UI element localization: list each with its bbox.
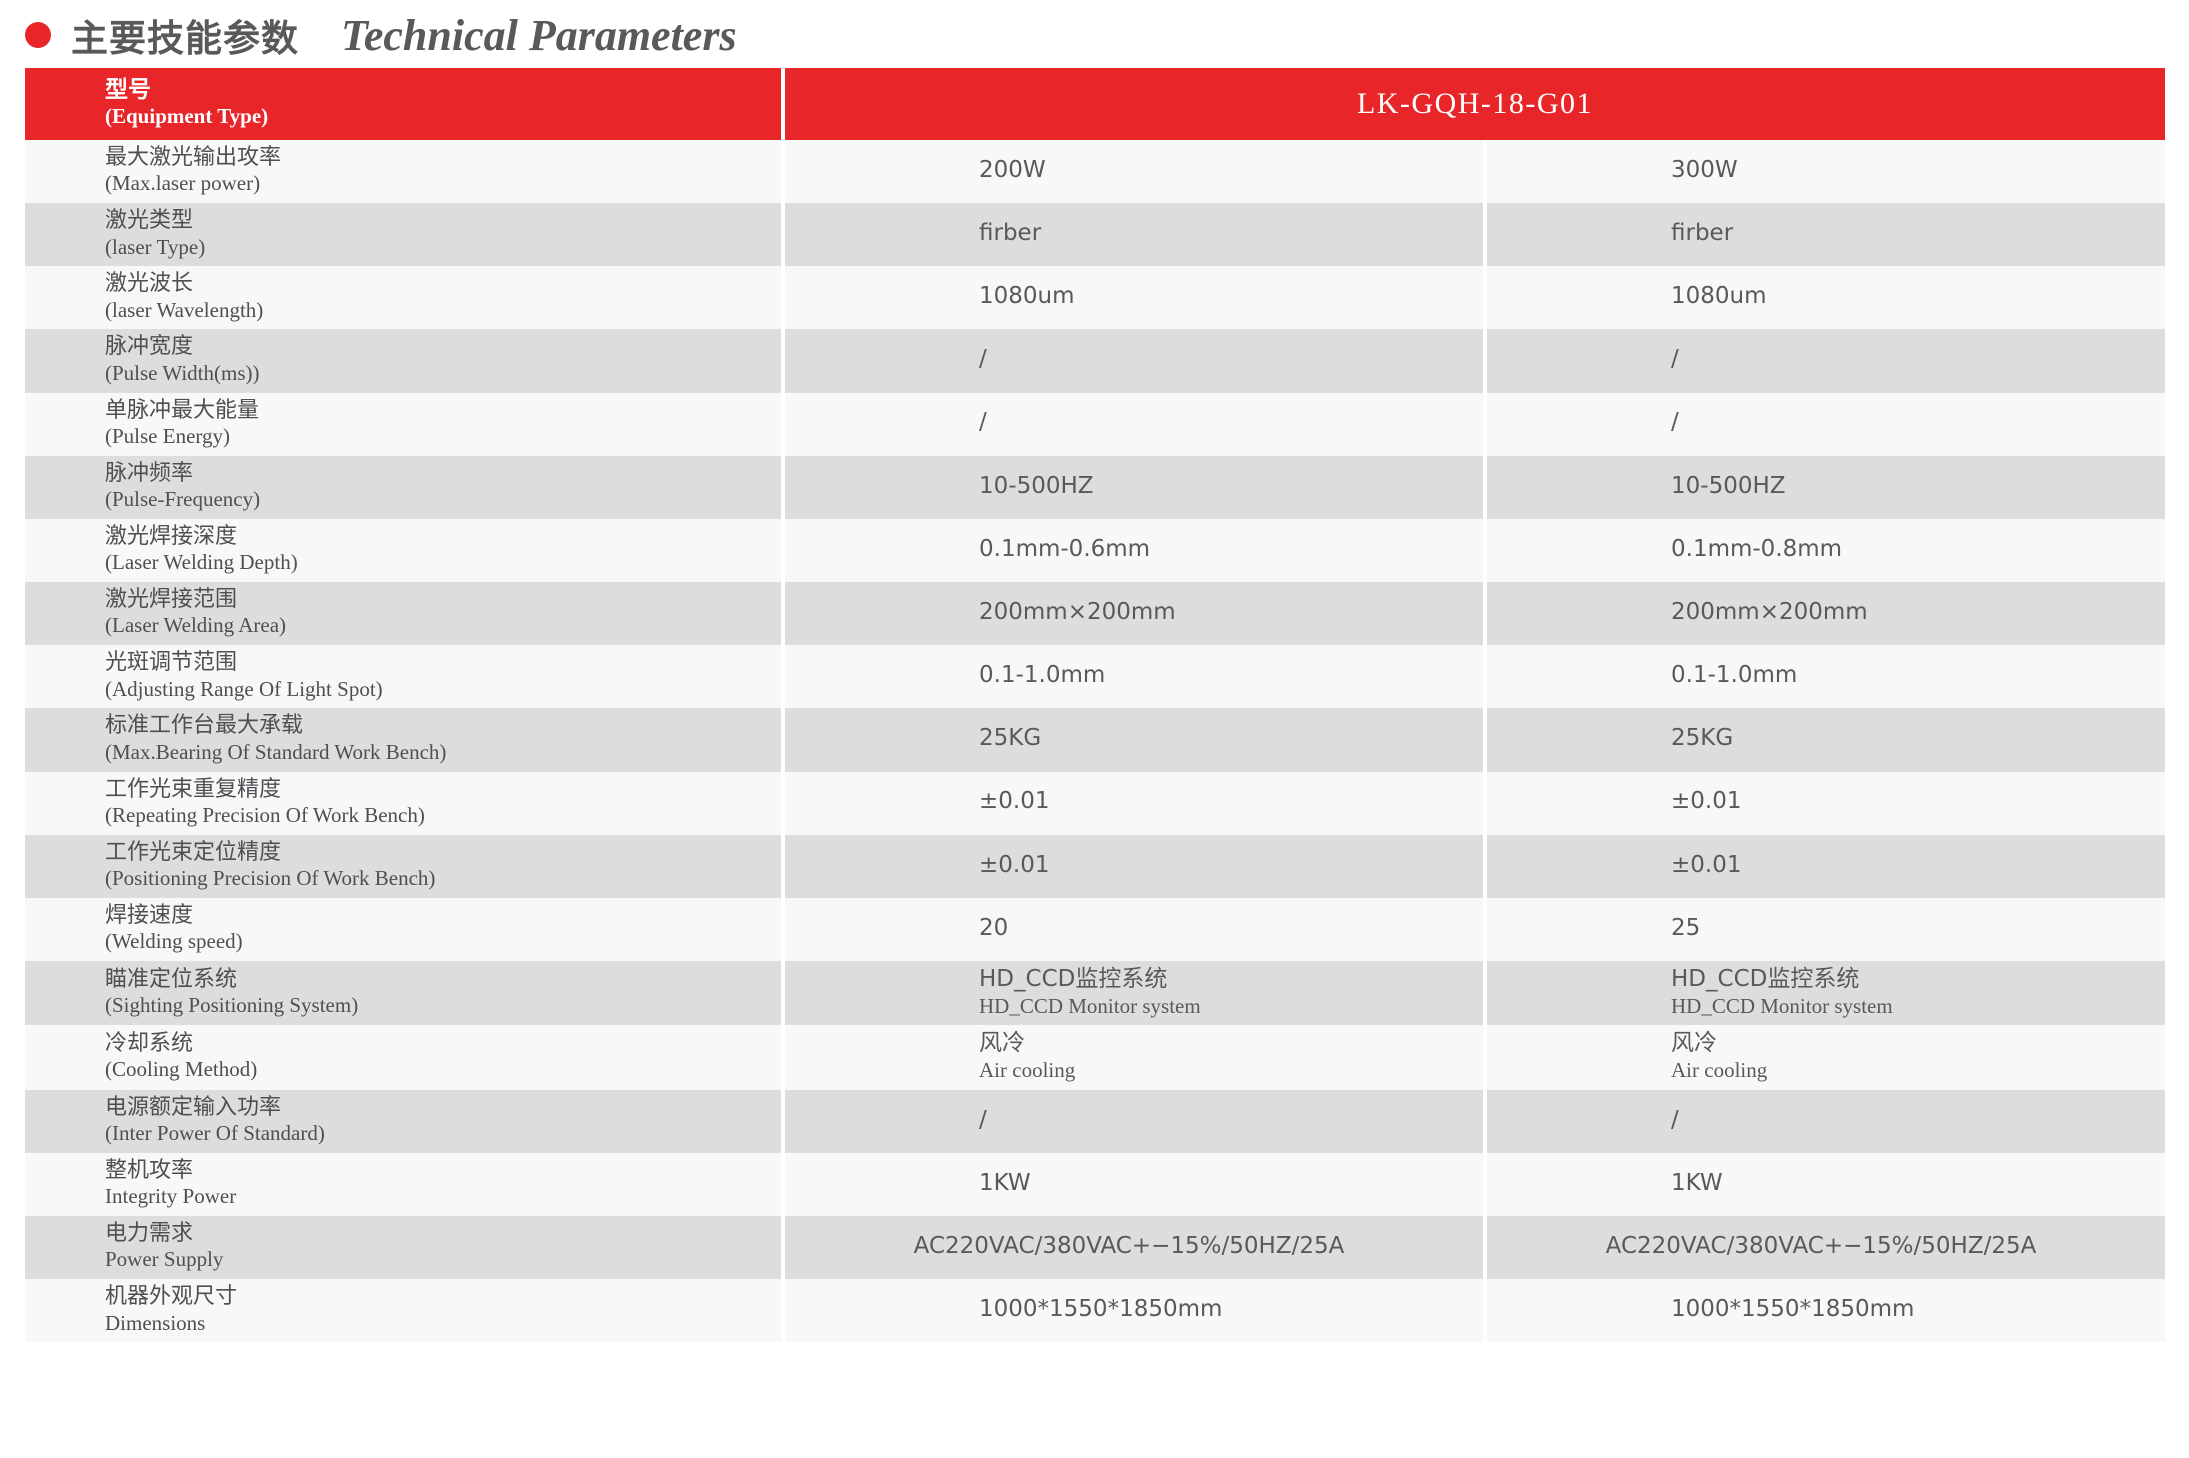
row-label-cell: 脉冲频率(Pulse-Frequency) — [25, 456, 783, 519]
row-value-cell-1: 1080um — [783, 266, 1485, 329]
row-value-cell-2: HD_CCD监控系统HD_CCD Monitor system — [1485, 961, 2165, 1025]
row-label-cn: 激光焊接深度 — [105, 524, 771, 550]
row-label-cell: 工作光束定位精度(Positioning Precision Of Work B… — [25, 835, 783, 898]
row-value-cell-2: firber — [1485, 203, 2165, 266]
row-value-cell-2: ±0.01 — [1485, 835, 2165, 898]
value-text: 25KG — [1671, 725, 1971, 753]
table-row: 工作光束定位精度(Positioning Precision Of Work B… — [25, 835, 2165, 898]
row-label-cell: 焊接速度(Welding speed) — [25, 898, 783, 961]
value-text: 1KW — [979, 1170, 1279, 1198]
table-row: 最大激光输出攻率(Max.laser power)200W300W — [25, 140, 2165, 203]
value-text: 1080um — [1671, 283, 1971, 311]
value-block: 300W — [1671, 157, 1971, 185]
row-value-cell-2: / — [1485, 329, 2165, 392]
table-body: 最大激光输出攻率(Max.laser power)200W300W激光类型(la… — [25, 140, 2165, 1342]
row-label-en: Integrity Power — [105, 1184, 771, 1209]
row-label-cn: 整机攻率 — [105, 1158, 771, 1184]
row-value-cell-1: ±0.01 — [783, 772, 1485, 835]
row-label-en: (Inter Power Of Standard) — [105, 1121, 771, 1146]
value-block: 1080um — [979, 283, 1279, 311]
row-label-cell: 单脉冲最大能量(Pulse Energy) — [25, 393, 783, 456]
value-block: 25KG — [979, 725, 1279, 753]
row-label-cell: 机器外观尺寸Dimensions — [25, 1279, 783, 1342]
value-text: ±0.01 — [979, 788, 1279, 816]
value-text: firber — [979, 220, 1279, 248]
row-label-cell: 激光焊接范围(Laser Welding Area) — [25, 582, 783, 645]
table-row: 标准工作台最大承载(Max.Bearing Of Standard Work B… — [25, 708, 2165, 771]
row-value-cell-1: 风冷Air cooling — [783, 1025, 1485, 1089]
table-row: 激光焊接深度(Laser Welding Depth)0.1mm-0.6mm0.… — [25, 519, 2165, 582]
page-title-en: Technical Parameters — [341, 10, 737, 61]
row-label-cn: 焊接速度 — [105, 903, 771, 929]
table-row: 脉冲宽度(Pulse Width(ms))// — [25, 329, 2165, 392]
row-label-cn: 激光类型 — [105, 208, 771, 234]
value-text: 0.1-1.0mm — [979, 662, 1279, 690]
row-label-cn: 激光焊接范围 — [105, 587, 771, 613]
value-block: 10-500HZ — [979, 473, 1279, 501]
table-row: 单脉冲最大能量(Pulse Energy)// — [25, 393, 2165, 456]
value-text: ±0.01 — [1671, 788, 1971, 816]
value-text: 风冷 — [1671, 1030, 1971, 1058]
value-text: 10-500HZ — [979, 473, 1279, 501]
row-value-cell-1: 20 — [783, 898, 1485, 961]
value-subtext: Air cooling — [1671, 1058, 1971, 1083]
page-heading: 主要技能参数 Technical Parameters — [25, 6, 737, 64]
value-block: ±0.01 — [979, 788, 1279, 816]
header-label-en: (Equipment Type) — [105, 104, 781, 129]
table-row: 冷却系统(Cooling Method)风冷Air cooling风冷Air c… — [25, 1025, 2165, 1089]
value-block: 0.1mm-0.6mm — [979, 536, 1279, 564]
value-text: 25 — [1671, 915, 1971, 943]
value-block: 0.1-1.0mm — [1671, 662, 1971, 690]
value-text: ±0.01 — [1671, 852, 1971, 880]
value-block: 200W — [979, 157, 1279, 185]
value-text: / — [979, 1107, 1279, 1135]
row-label-cell: 光斑调节范围(Adjusting Range Of Light Spot) — [25, 645, 783, 708]
row-label-cell: 工作光束重复精度(Repeating Precision Of Work Ben… — [25, 772, 783, 835]
value-text: 200W — [979, 157, 1279, 185]
row-label-cn: 单脉冲最大能量 — [105, 398, 771, 424]
bullet-icon — [25, 22, 51, 48]
table-row: 工作光束重复精度(Repeating Precision Of Work Ben… — [25, 772, 2165, 835]
value-block: 1KW — [979, 1170, 1279, 1198]
value-block: 20 — [979, 915, 1279, 943]
value-text: 300W — [1671, 157, 1971, 185]
row-value-cell-2: 0.1mm-0.8mm — [1485, 519, 2165, 582]
page-title-cn: 主要技能参数 — [71, 8, 299, 62]
value-block: AC220VAC/380VAC+−15%/50HZ/25A — [1606, 1233, 2037, 1261]
row-label-en: (Laser Welding Area) — [105, 613, 771, 638]
table-row: 整机攻率Integrity Power1KW1KW — [25, 1153, 2165, 1216]
row-label-cn: 电源额定输入功率 — [105, 1095, 771, 1121]
row-label-en: (Cooling Method) — [105, 1057, 771, 1082]
value-subtext: Air cooling — [979, 1058, 1279, 1083]
table-row: 脉冲频率(Pulse-Frequency)10-500HZ10-500HZ — [25, 456, 2165, 519]
technical-parameters-table: 型号 (Equipment Type) LK-GQH-18-G01 最大激光输出… — [25, 68, 2165, 1342]
row-label-en: (laser Type) — [105, 235, 771, 260]
value-text: / — [1671, 1107, 1971, 1135]
row-value-cell-1: ±0.01 — [783, 835, 1485, 898]
value-block: / — [1671, 1107, 1971, 1135]
row-value-cell-2: 1KW — [1485, 1153, 2165, 1216]
value-block: 0.1-1.0mm — [979, 662, 1279, 690]
value-text: 1000*1550*1850mm — [1671, 1296, 1971, 1324]
value-block: 200mm×200mm — [1671, 599, 1971, 627]
row-value-cell-2: 25KG — [1485, 708, 2165, 771]
value-block: 10-500HZ — [1671, 473, 1971, 501]
table-row: 激光类型(laser Type)firberfirber — [25, 203, 2165, 266]
row-label-en: (Max.laser power) — [105, 171, 771, 196]
row-value-cell-1: 1000*1550*1850mm — [783, 1279, 1485, 1342]
row-value-cell-1: 0.1-1.0mm — [783, 645, 1485, 708]
table-row: 电源额定输入功率(Inter Power Of Standard)// — [25, 1090, 2165, 1153]
header-cell-model: LK-GQH-18-G01 — [783, 68, 2165, 140]
header-cell-equipment-type: 型号 (Equipment Type) — [25, 68, 783, 140]
row-value-cell-1: 10-500HZ — [783, 456, 1485, 519]
value-block: HD_CCD监控系统HD_CCD Monitor system — [1671, 966, 1971, 1018]
value-block: 25 — [1671, 915, 1971, 943]
value-text: 25KG — [979, 725, 1279, 753]
table-row: 激光波长(laser Wavelength)1080um1080um — [25, 266, 2165, 329]
value-block: ±0.01 — [1671, 852, 1971, 880]
value-block: 1000*1550*1850mm — [1671, 1296, 1971, 1324]
row-label-cell: 最大激光输出攻率(Max.laser power) — [25, 140, 783, 203]
row-value-cell-2: 风冷Air cooling — [1485, 1025, 2165, 1089]
row-value-cell-2: / — [1485, 1090, 2165, 1153]
row-label-en: (laser Wavelength) — [105, 298, 771, 323]
value-text: 1KW — [1671, 1170, 1971, 1198]
table-row: 电力需求Power SupplyAC220VAC/380VAC+−15%/50H… — [25, 1216, 2165, 1279]
value-block: 1KW — [1671, 1170, 1971, 1198]
row-value-cell-2: AC220VAC/380VAC+−15%/50HZ/25A — [1485, 1216, 2165, 1279]
row-value-cell-2: 10-500HZ — [1485, 456, 2165, 519]
value-block: / — [1671, 346, 1971, 374]
row-label-cell: 脉冲宽度(Pulse Width(ms)) — [25, 329, 783, 392]
row-value-cell-1: 200mm×200mm — [783, 582, 1485, 645]
table-row: 机器外观尺寸Dimensions1000*1550*1850mm1000*155… — [25, 1279, 2165, 1342]
row-label-cell: 标准工作台最大承载(Max.Bearing Of Standard Work B… — [25, 708, 783, 771]
row-label-cell: 激光波长(laser Wavelength) — [25, 266, 783, 329]
value-text: ±0.01 — [979, 852, 1279, 880]
row-label-en: (Laser Welding Depth) — [105, 550, 771, 575]
value-block: / — [979, 346, 1279, 374]
value-text: / — [1671, 346, 1971, 374]
value-text: 0.1-1.0mm — [1671, 662, 1971, 690]
value-text: 1000*1550*1850mm — [979, 1296, 1279, 1324]
row-value-cell-1: / — [783, 1090, 1485, 1153]
value-block: 风冷Air cooling — [1671, 1030, 1971, 1082]
row-label-cn: 最大激光输出攻率 — [105, 145, 771, 171]
row-value-cell-2: 1080um — [1485, 266, 2165, 329]
row-label-cn: 脉冲宽度 — [105, 334, 771, 360]
row-label-en: Dimensions — [105, 1311, 771, 1336]
value-block: / — [1671, 409, 1971, 437]
row-label-cn: 冷却系统 — [105, 1031, 771, 1057]
value-text: 0.1mm-0.8mm — [1671, 536, 1971, 564]
row-value-cell-1: / — [783, 393, 1485, 456]
value-text: AC220VAC/380VAC+−15%/50HZ/25A — [1606, 1233, 2037, 1261]
row-label-cn: 标准工作台最大承载 — [105, 713, 771, 739]
value-block: ±0.01 — [1671, 788, 1971, 816]
header-label-cn: 型号 — [105, 77, 781, 104]
row-value-cell-2: / — [1485, 393, 2165, 456]
row-value-cell-1: firber — [783, 203, 1485, 266]
row-label-cn: 电力需求 — [105, 1221, 771, 1247]
row-value-cell-1: / — [783, 329, 1485, 392]
row-label-cell: 电源额定输入功率(Inter Power Of Standard) — [25, 1090, 783, 1153]
row-value-cell-1: AC220VAC/380VAC+−15%/50HZ/25A — [783, 1216, 1485, 1279]
row-label-cn: 脉冲频率 — [105, 461, 771, 487]
table-row: 光斑调节范围(Adjusting Range Of Light Spot)0.1… — [25, 645, 2165, 708]
value-text: 风冷 — [979, 1030, 1279, 1058]
row-value-cell-2: 0.1-1.0mm — [1485, 645, 2165, 708]
table-row: 瞄准定位系统(Sighting Positioning System)HD_CC… — [25, 961, 2165, 1025]
value-text: AC220VAC/380VAC+−15%/50HZ/25A — [914, 1233, 1345, 1261]
row-label-cell: 电力需求Power Supply — [25, 1216, 783, 1279]
value-block: firber — [1671, 220, 1971, 248]
value-block: / — [979, 409, 1279, 437]
row-value-cell-1: 1KW — [783, 1153, 1485, 1216]
value-subtext: HD_CCD Monitor system — [979, 994, 1279, 1019]
value-text: 20 — [979, 915, 1279, 943]
value-block: 风冷Air cooling — [979, 1030, 1279, 1082]
value-text: / — [979, 346, 1279, 374]
value-block: AC220VAC/380VAC+−15%/50HZ/25A — [914, 1233, 1345, 1261]
row-value-cell-1: 0.1mm-0.6mm — [783, 519, 1485, 582]
row-label-en: (Max.Bearing Of Standard Work Bench) — [105, 740, 771, 765]
row-label-en: (Pulse-Frequency) — [105, 487, 771, 512]
value-block: 0.1mm-0.8mm — [1671, 536, 1971, 564]
value-block: 25KG — [1671, 725, 1971, 753]
row-label-en: (Sighting Positioning System) — [105, 993, 771, 1018]
row-label-cn: 瞄准定位系统 — [105, 967, 771, 993]
row-value-cell-2: 1000*1550*1850mm — [1485, 1279, 2165, 1342]
row-label-en: Power Supply — [105, 1247, 771, 1272]
value-text: HD_CCD监控系统 — [1671, 966, 1971, 994]
table-header-row: 型号 (Equipment Type) LK-GQH-18-G01 — [25, 68, 2165, 140]
value-block: ±0.01 — [979, 852, 1279, 880]
value-text: / — [1671, 409, 1971, 437]
row-label-cell: 激光类型(laser Type) — [25, 203, 783, 266]
row-label-en: (Pulse Width(ms)) — [105, 361, 771, 386]
value-text: firber — [1671, 220, 1971, 248]
row-value-cell-2: 300W — [1485, 140, 2165, 203]
row-label-en: (Positioning Precision Of Work Bench) — [105, 866, 771, 891]
row-value-cell-2: 25 — [1485, 898, 2165, 961]
row-label-cn: 工作光束定位精度 — [105, 840, 771, 866]
row-value-cell-1: 25KG — [783, 708, 1485, 771]
value-block: / — [979, 1107, 1279, 1135]
row-label-cn: 机器外观尺寸 — [105, 1284, 771, 1310]
table-row: 激光焊接范围(Laser Welding Area)200mm×200mm200… — [25, 582, 2165, 645]
row-label-cn: 工作光束重复精度 — [105, 777, 771, 803]
row-label-en: (Adjusting Range Of Light Spot) — [105, 677, 771, 702]
row-label-cell: 瞄准定位系统(Sighting Positioning System) — [25, 961, 783, 1025]
row-label-en: (Repeating Precision Of Work Bench) — [105, 803, 771, 828]
value-block: 200mm×200mm — [979, 599, 1279, 627]
table-row: 焊接速度(Welding speed)2025 — [25, 898, 2165, 961]
value-text: 0.1mm-0.6mm — [979, 536, 1279, 564]
value-subtext: HD_CCD Monitor system — [1671, 994, 1971, 1019]
value-text: 10-500HZ — [1671, 473, 1971, 501]
value-text: 200mm×200mm — [979, 599, 1279, 627]
row-label-cell: 整机攻率Integrity Power — [25, 1153, 783, 1216]
value-block: 1080um — [1671, 283, 1971, 311]
value-text: HD_CCD监控系统 — [979, 966, 1279, 994]
row-label-en: (Pulse Energy) — [105, 424, 771, 449]
value-block: 1000*1550*1850mm — [979, 1296, 1279, 1324]
value-block: firber — [979, 220, 1279, 248]
row-value-cell-2: ±0.01 — [1485, 772, 2165, 835]
value-text: 200mm×200mm — [1671, 599, 1971, 627]
value-text: 1080um — [979, 283, 1279, 311]
row-label-cell: 冷却系统(Cooling Method) — [25, 1025, 783, 1089]
row-label-cn: 激光波长 — [105, 271, 771, 297]
row-label-cn: 光斑调节范围 — [105, 650, 771, 676]
row-value-cell-1: 200W — [783, 140, 1485, 203]
row-label-en: (Welding speed) — [105, 929, 771, 954]
row-label-cell: 激光焊接深度(Laser Welding Depth) — [25, 519, 783, 582]
value-text: / — [979, 409, 1279, 437]
row-value-cell-2: 200mm×200mm — [1485, 582, 2165, 645]
row-value-cell-1: HD_CCD监控系统HD_CCD Monitor system — [783, 961, 1485, 1025]
value-block: HD_CCD监控系统HD_CCD Monitor system — [979, 966, 1279, 1018]
